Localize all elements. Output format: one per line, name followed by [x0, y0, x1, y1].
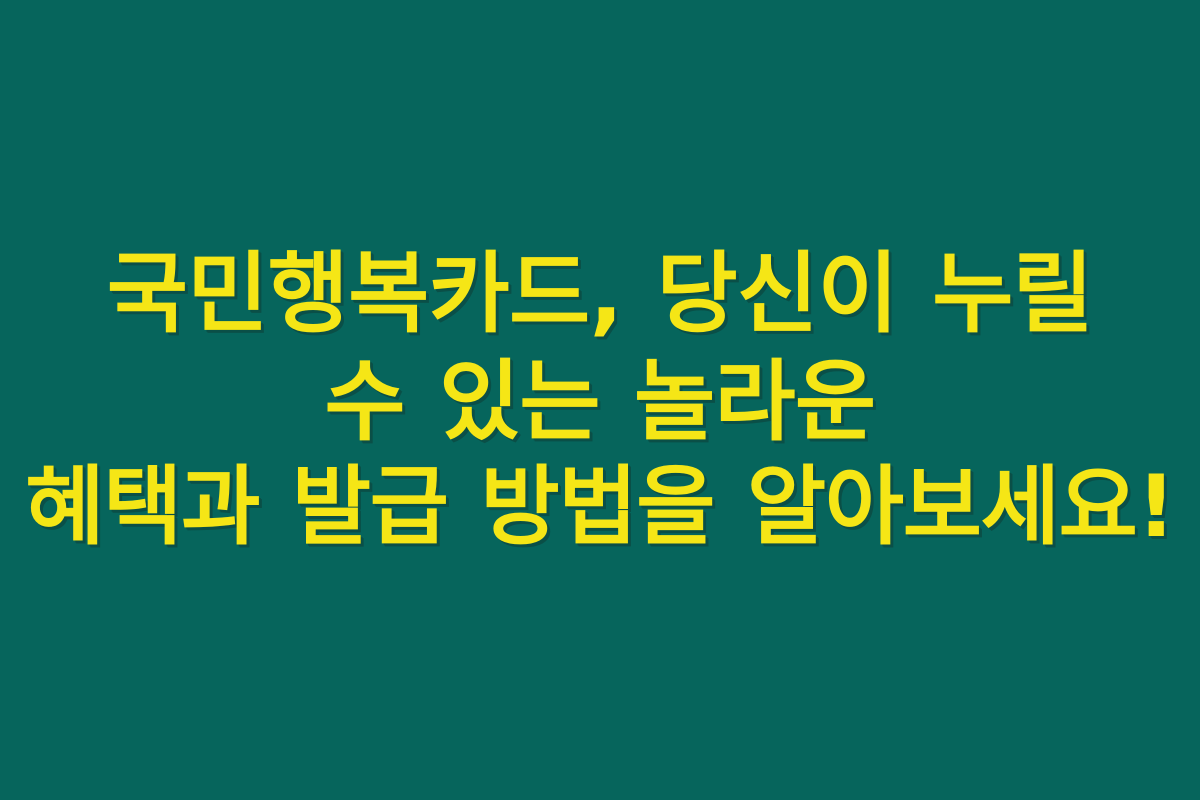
headline-line-3: 혜택과 발급 방법을 알아보세요!: [14, 455, 1186, 560]
headline-line-2: 수 있는 놀라운: [14, 348, 1186, 455]
headline-text-block: 국민행복카드, 당신이 누릴 수 있는 놀라운 혜택과 발급 방법을 알아보세요…: [0, 240, 1200, 560]
banner-canvas: 국민행복카드, 당신이 누릴 수 있는 놀라운 혜택과 발급 방법을 알아보세요…: [0, 0, 1200, 800]
headline-line-1: 국민행복카드, 당신이 누릴: [14, 240, 1186, 347]
